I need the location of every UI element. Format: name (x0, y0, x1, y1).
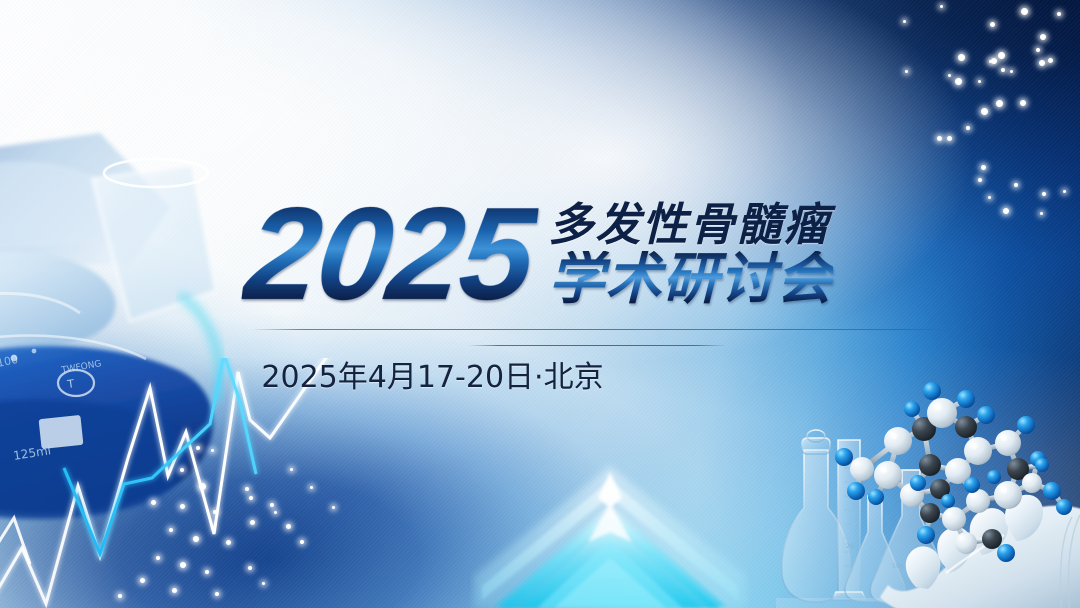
molecule-model (820, 373, 1080, 608)
chinese-title-block: 多发性骨髓瘤 学术研讨会 (548, 201, 833, 310)
divider-rule-short (468, 345, 726, 346)
conference-banner: T TWFONG 125ml 100 (0, 0, 1080, 608)
subject-title: 多发性骨髓瘤 (548, 201, 833, 249)
date-location-text: 2025年4月17-20日·北京 (261, 360, 603, 395)
year-title: 2025 (239, 188, 541, 320)
event-title: 学术研讨会 (548, 251, 833, 310)
date-location: 2025年4月17-20日·北京 (0, 352, 1080, 396)
title-block: 2025 多发性骨髓瘤 学术研讨会 (0, 186, 1080, 326)
glowing-chevron-arrows-icon (470, 458, 750, 608)
divider-rule-long (252, 329, 955, 330)
